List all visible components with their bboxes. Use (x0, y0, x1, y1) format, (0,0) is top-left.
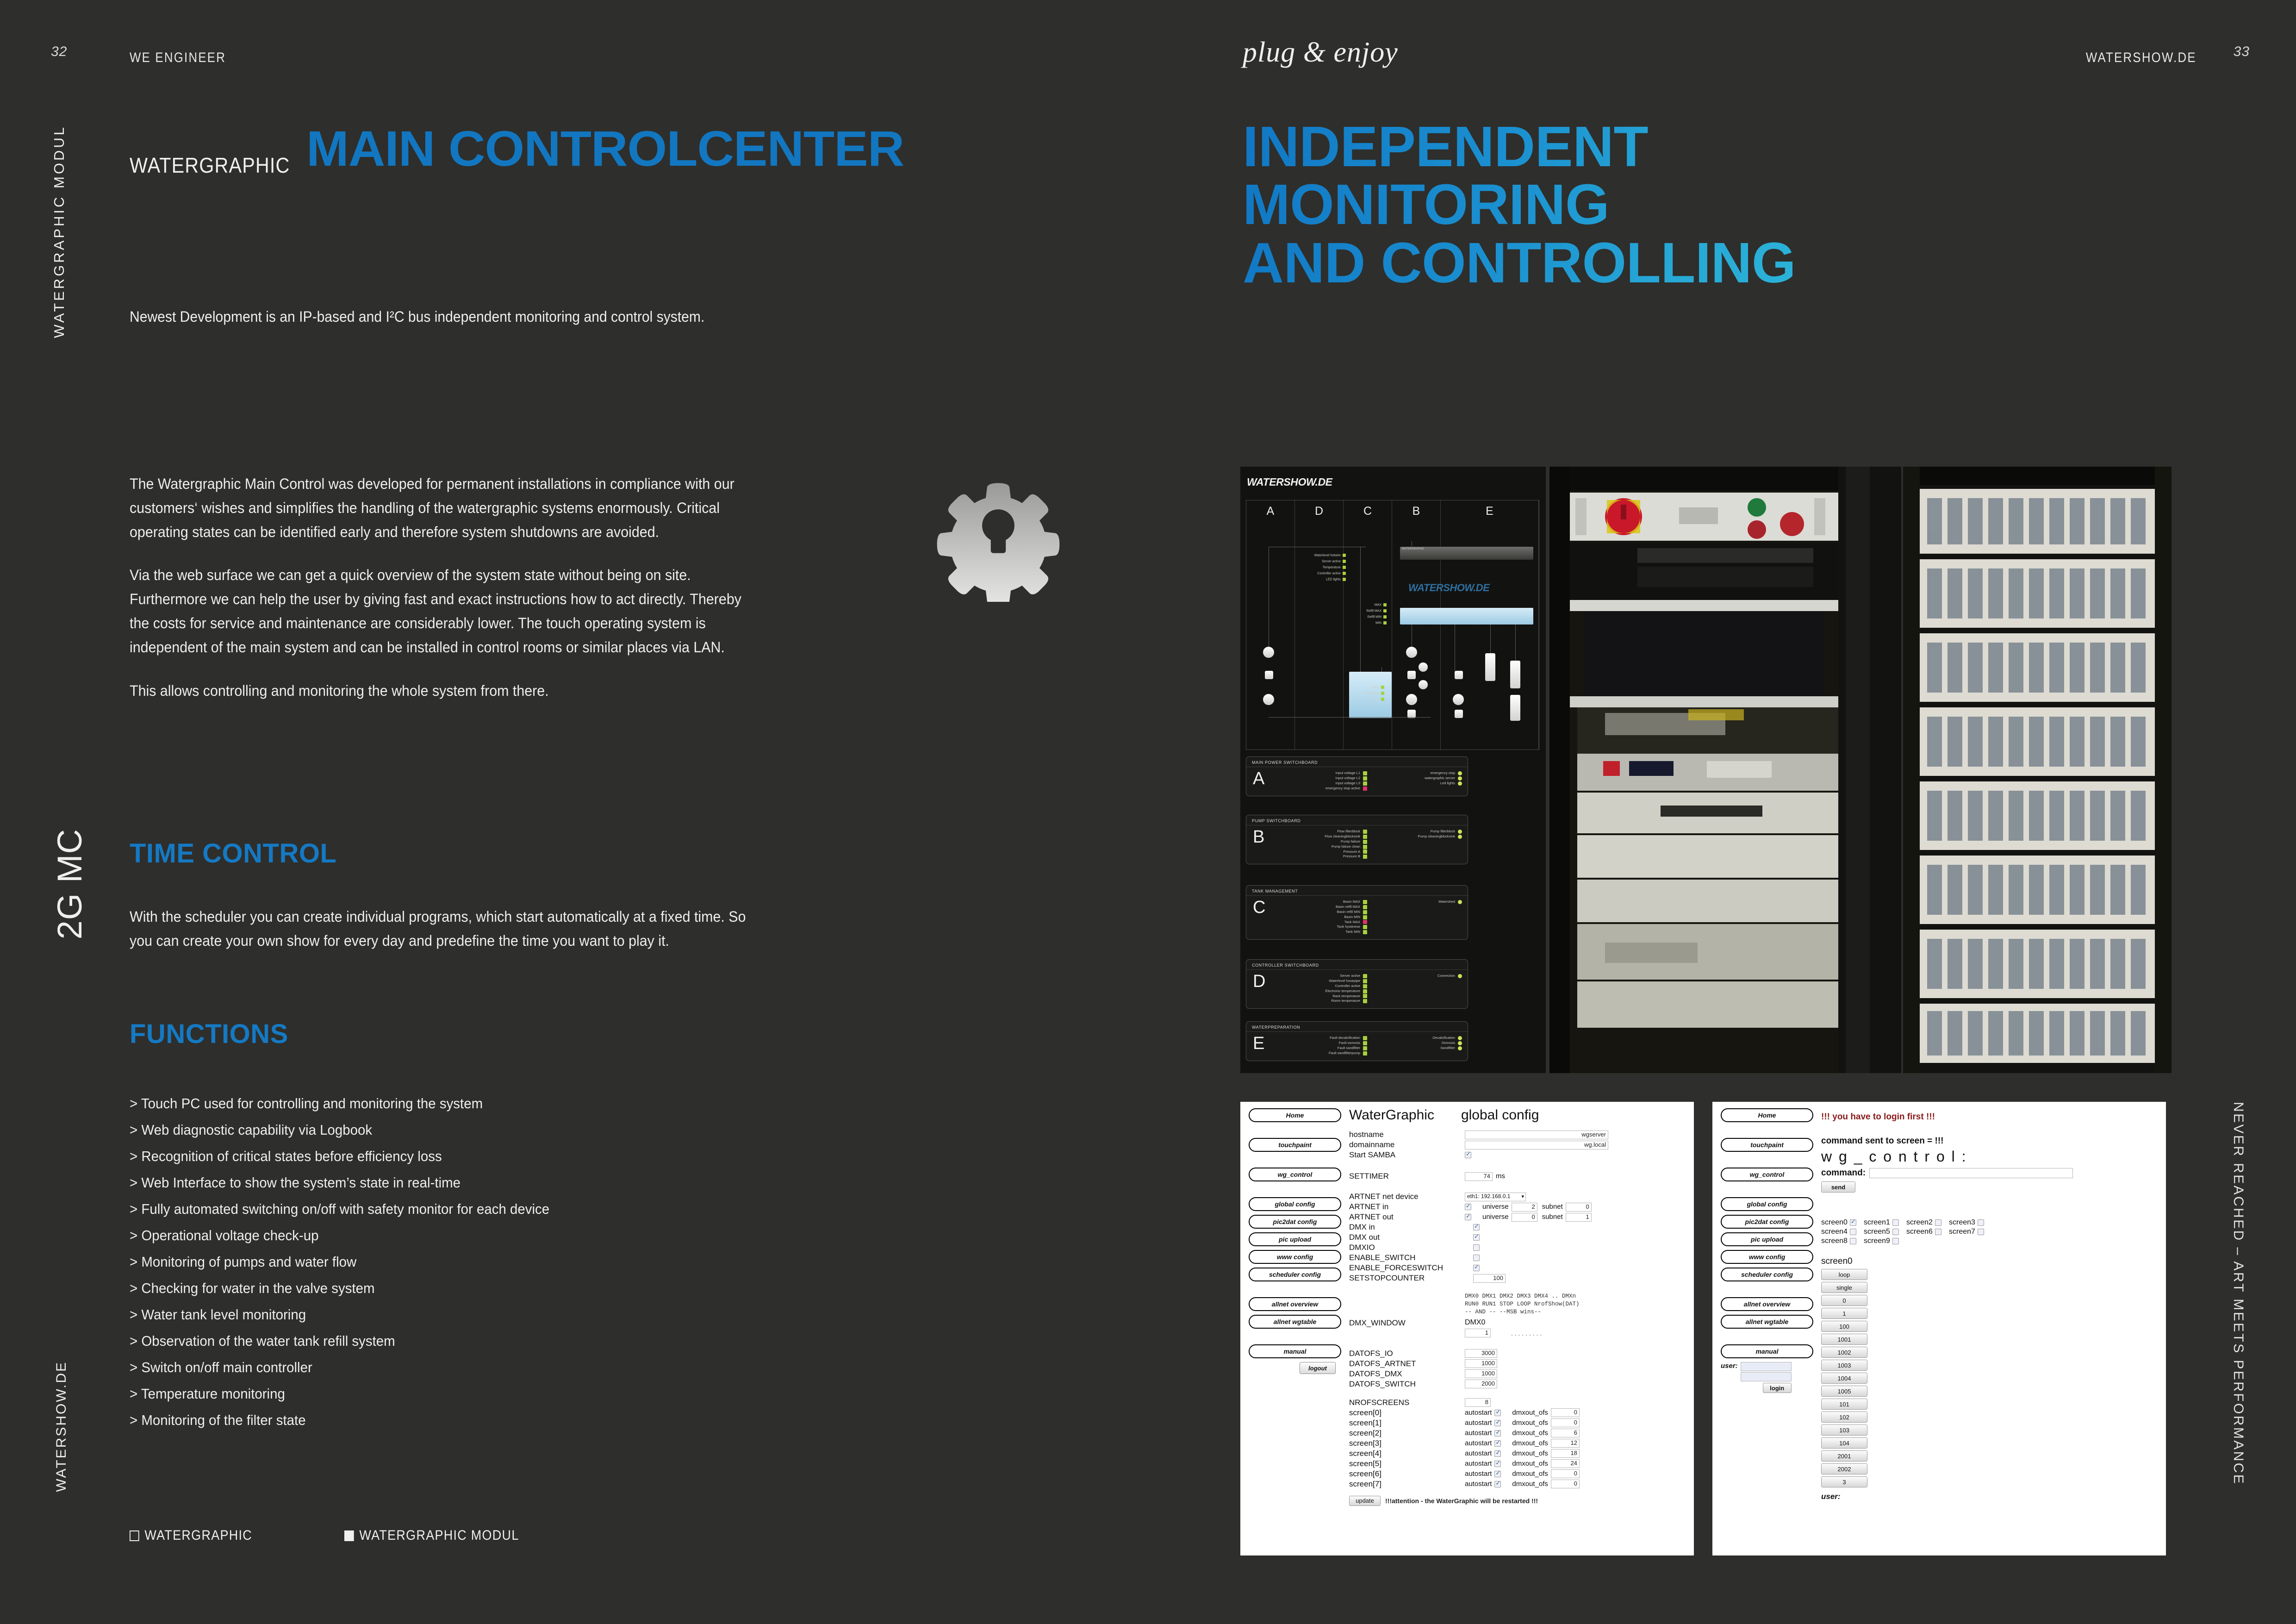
schematic-led-temperature: Temperature (1265, 566, 1346, 569)
schematic-group-letter: B (1253, 827, 1264, 847)
schematic-column-e: E (1441, 505, 1538, 518)
command-button-2001[interactable]: 2001 (1821, 1450, 1867, 1462)
dmxout-ofs-label: dmxout_ofs (1512, 1408, 1548, 1418)
webui-b-content: !!! you have to login first !!! command … (1821, 1107, 2162, 1501)
schematic-connector (1490, 625, 1491, 653)
schematic-node-fil-b (1407, 671, 1416, 679)
vertical-label-series: 2G MC (50, 829, 89, 939)
screen-check-label: screen3 (1949, 1218, 1975, 1227)
list-item: > Water tank level monitoring (130, 1301, 789, 1328)
nav-global-config[interactable]: global config (1721, 1197, 1813, 1211)
nav-manual[interactable]: manual (1249, 1344, 1341, 1358)
list-item: > Observation of the water tank refill s… (130, 1328, 789, 1354)
nav-pic2dat-config[interactable]: pic2dat config (1721, 1215, 1813, 1229)
schematic-node-p1-b (1419, 662, 1428, 672)
webui-a-content: WaterGraphic global config hostname wgse… (1349, 1107, 1690, 1506)
schematic-status-line: Input voltage L3 (1273, 781, 1368, 786)
selected-screen-label: screen0 (1821, 1256, 2162, 1267)
page-number-left: 32 (51, 44, 67, 60)
user-input[interactable] (1741, 1362, 1792, 1371)
dmxout-ofs-label: dmxout_ofs (1512, 1429, 1548, 1438)
dmx-window-label: DMX_WINDOW (1349, 1318, 1465, 1328)
schematic-status-line: Electronic temperature (1273, 989, 1368, 994)
section-heading-time-control: TIME CONTROL (130, 838, 336, 869)
artnet-out-subnet-input[interactable]: 1 (1566, 1213, 1592, 1222)
schematic-led-max: MAX (1332, 603, 1387, 606)
vertical-label-watershow-de: WATERSHOW.DE (54, 1361, 69, 1492)
autostart-checkbox[interactable] (1494, 1481, 1501, 1487)
footer-legend: WATERGRAPHIC WATERGRAPHIC MODUL (130, 1528, 539, 1543)
row-start-samba: Start SAMBA (1349, 1150, 1690, 1160)
dmx-legend-line: DMX0 DMX1 DMX2 DMX3 DMX4 .. DMXn (1465, 1293, 1690, 1300)
schematic-node-flow-b (1406, 647, 1417, 658)
row-settimer: SETTIMER 74 ms (1349, 1171, 1690, 1181)
left-page: 32 WE ENGINEER WATERGRAPHIC MODUL 2G MC … (0, 0, 1148, 1624)
list-item: > Web Interface to show the system’s sta… (130, 1169, 789, 1196)
page-title: global config (1461, 1107, 1539, 1123)
lede-paragraph: Newest Development is an IP-based and I²… (130, 306, 869, 329)
schematic-tank-led-max: MAX (1355, 686, 1384, 689)
dmxout-ofs-label: dmxout_ofs (1512, 1418, 1548, 1428)
schematic-status-line: Pump failure clean (1273, 844, 1368, 849)
schematic-connector (1381, 667, 1382, 672)
app-title: WaterGraphic (1349, 1107, 1434, 1123)
login-warning: !!! you have to login first !!! (1821, 1112, 2162, 1122)
command-button-2002[interactable]: 2002 (1821, 1463, 1867, 1474)
screen-check-label: screen5 (1864, 1228, 1890, 1236)
schematic-status-line: Server active (1273, 974, 1368, 979)
magazine-spread: 32 WE ENGINEER WATERGRAPHIC MODUL 2G MC … (0, 0, 2296, 1624)
schematic-status-line: emergency stop active (1273, 786, 1368, 791)
schematic-node-flow-a (1263, 647, 1274, 658)
schematic-group-letter: A (1253, 769, 1264, 789)
table-row: screen[0]autostartdmxout_ofs0 (1349, 1408, 1690, 1418)
flag-checkbox[interactable] (1473, 1224, 1480, 1230)
row-flag: ENABLE_SWITCH (1349, 1253, 1690, 1263)
schematic-group-b: PUMP SWITCHBOARDBFlow filterblockFlow cl… (1246, 815, 1468, 864)
row-datofs: DATOFS_DMX1000 (1349, 1369, 1690, 1379)
schematic-status-line: Connection (1368, 974, 1463, 979)
autostart-label: autostart (1465, 1408, 1492, 1418)
headline-kicker: WATERGRAPHIC (130, 153, 290, 178)
dmxout-ofs-input[interactable]: 0 (1551, 1480, 1580, 1488)
datofs-label: DATOFS_DMX (1349, 1369, 1465, 1379)
screen-checkbox[interactable] (1978, 1229, 1984, 1235)
artnet-out-universe-label: universe (1482, 1212, 1509, 1222)
command-button-list: loopsingle011001001100210031004100510110… (1821, 1269, 2162, 1501)
body-paragraph-1: The Watergraphic Main Control was develo… (130, 472, 754, 544)
list-item: > Web diagnostic capability via Logbook (130, 1117, 789, 1143)
screen-check-label: screen0 (1821, 1218, 1848, 1227)
schematic-status-line: Basin MIN (1273, 915, 1368, 920)
artnet-in-universe-input[interactable]: 2 (1512, 1203, 1537, 1212)
schematic-connector (1269, 547, 1269, 647)
schematic-group-d: CONTROLLER SWITCHBOARDDServer activeWate… (1246, 959, 1468, 1009)
nav-scheduler-config[interactable]: scheduler config (1721, 1268, 1813, 1281)
nav-pic-upload[interactable]: pic upload (1721, 1232, 1813, 1246)
dmx-legend-line: RUN0 RUN1 STOP LOOP NrofShow(DAT) (1465, 1300, 1690, 1308)
nav-global-config[interactable]: global config (1249, 1197, 1341, 1211)
artnet-out-checkbox[interactable] (1465, 1214, 1471, 1220)
nrofscreens-input[interactable]: 8 (1465, 1398, 1491, 1407)
schematic-column-c: C (1344, 505, 1392, 518)
schematic-group-title: WATERPREPARATION (1246, 1022, 1468, 1032)
screen-checkbox[interactable] (1935, 1229, 1941, 1235)
nav-allnet-overview[interactable]: allnet overview (1721, 1297, 1813, 1311)
flag-label: DMX in (1349, 1222, 1473, 1232)
screen-check-label: screen8 (1821, 1237, 1848, 1245)
schematic-connector (1515, 625, 1516, 661)
setstopcounter-input[interactable]: 100 (1473, 1274, 1506, 1283)
screen-checkbox[interactable] (1850, 1219, 1856, 1226)
autostart-label: autostart (1465, 1480, 1492, 1489)
schematic-group-title: CONTROLLER SWITCHBOARD (1246, 960, 1468, 970)
nav-allnet-wgtable[interactable]: allnet wgtable (1721, 1315, 1813, 1329)
command-row: command: (1821, 1168, 2162, 1178)
command-button-3[interactable]: 3 (1821, 1476, 1867, 1487)
row-dmx-window: DMX_WINDOW DMX0 (1349, 1318, 1690, 1328)
autostart-checkbox[interactable] (1494, 1461, 1501, 1467)
command-button-0[interactable]: 0 (1821, 1295, 1867, 1306)
square-hollow-icon (130, 1530, 139, 1541)
domainname-input[interactable]: wg.local (1465, 1141, 1608, 1149)
schematic-group-letter: C (1253, 898, 1265, 918)
dmxout-ofs-label: dmxout_ofs (1512, 1469, 1548, 1479)
schematic-led-refill-min: Refill MIN (1332, 615, 1387, 618)
nav-touchpaint[interactable]: touchpaint (1249, 1138, 1341, 1152)
screen-check-label: screen2 (1906, 1218, 1933, 1227)
schematic-status-line: Rack temperature (1273, 994, 1368, 999)
schematic-led-waterlevel: Waterlevel hotwire (1265, 554, 1346, 557)
schematic-status-line: Input voltage L1 (1273, 771, 1368, 776)
table-row: screen[4]autostartdmxout_ofs18 (1349, 1449, 1690, 1459)
schematic-status-line: Osmosis (1368, 1041, 1463, 1046)
table-row: screen[3]autostartdmxout_ofs12 (1349, 1438, 1690, 1449)
flag-checkbox[interactable] (1473, 1244, 1480, 1251)
command-button-1[interactable]: 1 (1821, 1308, 1867, 1319)
schematic-status-line: Pump cleaningblocksink (1368, 834, 1463, 839)
command-input[interactable] (1869, 1168, 2073, 1178)
schematic-connector (1412, 625, 1412, 647)
schematic-overlay-bar: WATERGRAPHIC (1400, 547, 1533, 560)
schematic-status-line: Flow filterblock (1273, 829, 1368, 834)
schematic-status-line: Input voltage L2 (1273, 776, 1368, 781)
settimer-input[interactable]: 74 (1465, 1172, 1493, 1181)
command-button-1005[interactable]: 1005 (1821, 1386, 1867, 1397)
schematic-water-bar (1400, 608, 1533, 625)
settimer-unit: ms (1496, 1172, 1505, 1181)
system-schematic-screenshot: WATERSHOW.DE A D C B E Waterlevel hotwir… (1240, 467, 1546, 1073)
autostart-label: autostart (1465, 1429, 1492, 1438)
schematic-status-line: Fault osmosis (1273, 1041, 1368, 1046)
row-artnet-out: ARTNET out universe 0 subnet 1 (1349, 1212, 1690, 1222)
password-input[interactable] (1741, 1372, 1792, 1381)
artnet-in-checkbox[interactable] (1465, 1204, 1471, 1210)
schematic-group-title: MAIN POWER SWITCHBOARD (1246, 757, 1468, 767)
schematic-connector (1360, 547, 1361, 672)
screen-checkbox[interactable] (1892, 1229, 1899, 1235)
flag-checkbox[interactable] (1473, 1234, 1480, 1241)
login-block: user:login (1721, 1362, 1813, 1393)
schematic-status-line: Tank hysterese (1273, 924, 1368, 930)
login-button[interactable]: login (1763, 1383, 1792, 1393)
command-button-1003[interactable]: 1003 (1821, 1360, 1867, 1371)
screen-name: screen[1] (1349, 1418, 1465, 1428)
panel-title: w g _ c o n t r o l : (1821, 1148, 2162, 1165)
datofs-input[interactable]: 2000 (1465, 1380, 1497, 1388)
command-button-102[interactable]: 102 (1821, 1412, 1867, 1423)
datofs-label: DATOFS_SWITCH (1349, 1379, 1465, 1389)
datofs-label: DATOFS_IO (1349, 1349, 1465, 1359)
row-datofs: DATOFS_ARTNET1000 (1349, 1359, 1690, 1369)
legend-item-watergraphic-modul: WATERGRAPHIC MODUL (344, 1528, 519, 1543)
list-item: > Monitoring of pumps and water flow (130, 1249, 789, 1275)
webui-global-config-screenshot: Hometouchpaintwg_controlglobal configpic… (1240, 1102, 1694, 1555)
nav-wg-control[interactable]: wg_control (1249, 1168, 1341, 1181)
schematic-status-line: Waterlevel hosepipe (1273, 979, 1368, 984)
command-sent-status: command sent to screen = !!! (1821, 1136, 2162, 1146)
artnet-out-universe-input[interactable]: 0 (1512, 1213, 1537, 1222)
dmxout-ofs-label: dmxout_ofs (1512, 1459, 1548, 1468)
nav-home[interactable]: Home (1721, 1108, 1813, 1122)
autostart-checkbox[interactable] (1494, 1471, 1501, 1477)
dmx-window-dots: . . . . . . . . . (1511, 1329, 1542, 1337)
webui-wg-control-screenshot: Hometouchpaintwg_controlglobal configpic… (1712, 1102, 2166, 1555)
nav-home[interactable]: Home (1249, 1108, 1341, 1122)
screen-checkbox[interactable] (1892, 1238, 1899, 1244)
screen-check-item[interactable]: screen3 (1949, 1218, 1991, 1227)
schematic-group-letter: D (1253, 972, 1265, 992)
dmx-window-input[interactable]: 1 (1465, 1329, 1491, 1337)
title-line-2: MONITORING (1243, 176, 1796, 234)
nrofscreens-label: NROFSCREENS (1349, 1398, 1465, 1408)
vertical-label-watergraphic-modul: WATERGRAPHIC MODUL (51, 125, 68, 338)
command-button-100[interactable]: 100 (1821, 1321, 1867, 1332)
login-row: user: (1821, 1492, 2162, 1501)
screen-checkbox[interactable] (1978, 1219, 1984, 1226)
row-hostname: hostname wgserver (1349, 1130, 1690, 1140)
dmxout-ofs-input[interactable]: 0 (1551, 1469, 1580, 1478)
hostname-input[interactable]: wgserver (1465, 1131, 1608, 1139)
schematic-tank-led-min: MIN (1355, 698, 1384, 701)
screen-check-item[interactable]: screen5 (1864, 1228, 1906, 1236)
screen-name: screen[6] (1349, 1469, 1465, 1479)
start-samba-label: Start SAMBA (1349, 1150, 1465, 1160)
schematic-group-title: PUMP SWITCHBOARD (1246, 815, 1468, 825)
artnet-device-select[interactable]: eth1: 192.168.0.1 (1465, 1193, 1526, 1201)
dmxout-ofs-input[interactable]: 12 (1551, 1439, 1580, 1448)
screen-checkbox[interactable] (1850, 1229, 1856, 1235)
screen-check-label: screen1 (1864, 1218, 1890, 1227)
nav-www-config[interactable]: www config (1721, 1250, 1813, 1264)
schematic-status-line: Tank MAX (1273, 920, 1368, 925)
screen-check-label: screen7 (1949, 1228, 1975, 1236)
screen-name: screen[7] (1349, 1479, 1465, 1489)
nav-pic-upload[interactable]: pic upload (1249, 1232, 1341, 1246)
flag-checkbox[interactable] (1473, 1255, 1480, 1261)
schematic-status-line: Decalcification (1368, 1036, 1463, 1041)
screen-checkbox[interactable] (1850, 1238, 1856, 1244)
command-button-104[interactable]: 104 (1821, 1437, 1867, 1449)
schematic-status-line: Basin refill MIN (1273, 910, 1368, 915)
schematic-status-line: Fault decalcification (1273, 1036, 1368, 1041)
autostart-checkbox[interactable] (1494, 1430, 1501, 1437)
nav-allnet-overview[interactable]: allnet overview (1249, 1297, 1341, 1311)
schematic-group-title: TANK MANAGEMENT (1246, 886, 1468, 896)
nav-pic2dat-config[interactable]: pic2dat config (1249, 1215, 1341, 1229)
command-button-103[interactable]: 103 (1821, 1424, 1867, 1436)
schematic-node-tall-e1 (1485, 653, 1495, 681)
screen-checkbox[interactable] (1935, 1219, 1941, 1226)
row-flag: DMX out (1349, 1232, 1690, 1243)
schematic-node-fil2-e (1455, 710, 1463, 718)
screen-check-item[interactable]: screen7 (1949, 1228, 1991, 1236)
schematic-status-line: Tank MIN (1273, 930, 1368, 935)
settimer-label: SETTIMER (1349, 1171, 1465, 1181)
body-paragraph-3: This allows controlling and monitoring t… (130, 679, 754, 703)
screen-check-item[interactable]: screen1 (1864, 1218, 1906, 1227)
command-button-loop[interactable]: loop (1821, 1269, 1867, 1280)
schematic-led-min: MIN (1332, 621, 1387, 625)
screen-check-item[interactable]: screen6 (1906, 1228, 1949, 1236)
legend-label: WATERGRAPHIC (144, 1528, 252, 1543)
webui-a-title-row: WaterGraphic global config (1349, 1107, 1690, 1123)
page-title: MAIN CONTROLCENTER (306, 119, 904, 177)
body-paragraph-2: Via the web surface we can get a quick o… (130, 563, 754, 659)
list-item: > Fully automated switching on/off with … (130, 1196, 789, 1222)
autostart-label: autostart (1465, 1469, 1492, 1479)
nav-allnet-wgtable[interactable]: allnet wgtable (1249, 1315, 1341, 1329)
user-label: user: (1721, 1362, 1738, 1370)
artnet-in-universe-label: universe (1482, 1202, 1509, 1212)
screen-check-label: screen4 (1821, 1228, 1848, 1236)
screen-check-label: screen6 (1906, 1228, 1933, 1236)
dmxout-ofs-input[interactable]: 6 (1551, 1429, 1580, 1437)
dmxout-ofs-input[interactable]: 0 (1551, 1418, 1580, 1427)
screen-check-item[interactable]: screen4 (1821, 1228, 1864, 1236)
artnet-out-label: ARTNET out (1349, 1212, 1465, 1222)
schematic-column-d: D (1295, 505, 1343, 518)
screen-name: screen[4] (1349, 1449, 1465, 1459)
schematic-group-e: WATERPREPARATIONEFault decalcificationFa… (1246, 1021, 1468, 1061)
schematic-group-c: TANK MANAGEMENTCBasin MAXBasin refill MA… (1246, 885, 1468, 940)
logout-button[interactable]: logout (1300, 1362, 1336, 1374)
list-item: > Switch on/off main controller (130, 1354, 789, 1380)
datofs-input[interactable]: 1000 (1465, 1359, 1497, 1368)
datofs-label: DATOFS_ARTNET (1349, 1359, 1465, 1369)
functions-list: > Touch PC used for controlling and moni… (130, 1090, 824, 1433)
screen-check-item[interactable]: screen0 (1821, 1218, 1864, 1227)
list-item: > Temperature monitoring (130, 1380, 789, 1407)
artnet-in-subnet-label: subnet (1542, 1202, 1563, 1212)
dmxout-ofs-input[interactable]: 18 (1551, 1449, 1580, 1458)
autostart-checkbox[interactable] (1494, 1450, 1501, 1457)
datofs-input[interactable]: 1000 (1465, 1369, 1497, 1378)
schematic-led-controller: Controller active (1265, 572, 1346, 575)
webui-a-flags: DMX inDMX outDMXIOENABLE_SWITCHENABLE_FO… (1349, 1222, 1690, 1273)
dmxout-ofs-input[interactable]: 24 (1551, 1459, 1580, 1468)
autostart-label: autostart (1465, 1439, 1492, 1448)
screen-checkbox-grid: screen0screen1screen2screen3screen4scree… (1821, 1218, 2162, 1245)
artnet-device-label: ARTNET net device (1349, 1192, 1465, 1202)
hostname-label: hostname (1349, 1130, 1465, 1140)
schematic-group-a: MAIN POWER SWITCHBOARDAInput voltage L1I… (1246, 756, 1468, 796)
schematic-status-line: Pressure B (1273, 854, 1368, 859)
send-button[interactable]: send (1821, 1181, 1855, 1193)
schematic-node-pump-e (1453, 694, 1464, 705)
screen-check-item[interactable]: screen9 (1864, 1237, 1906, 1245)
time-control-text: With the scheduler you can create indivi… (130, 905, 759, 953)
datofs-input[interactable]: 3000 (1465, 1349, 1497, 1358)
flag-label: ENABLE_SWITCH (1349, 1253, 1473, 1263)
schematic-group-letter: E (1253, 1034, 1264, 1054)
row-flag: ENABLE_FORCESWITCH (1349, 1263, 1690, 1273)
row-setstopcounter: SETSTOPCOUNTER 100 (1349, 1273, 1690, 1283)
screen-name: screen[0] (1349, 1408, 1465, 1418)
update-button[interactable]: update (1349, 1496, 1381, 1506)
square-solid-icon (344, 1530, 354, 1541)
command-button-1001[interactable]: 1001 (1821, 1334, 1867, 1345)
screen-check-item[interactable]: screen2 (1906, 1218, 1949, 1227)
schematic-node-tall-e2 (1510, 661, 1520, 688)
screen-check-item[interactable]: screen8 (1821, 1237, 1864, 1245)
row-flag: DMX in (1349, 1222, 1690, 1232)
autostart-checkbox[interactable] (1494, 1420, 1501, 1426)
dmxout-ofs-input[interactable]: 0 (1551, 1408, 1580, 1417)
list-item: > Recognition of critical states before … (130, 1143, 789, 1169)
schematic-connector (1269, 547, 1366, 547)
server-rack-photo-right (1903, 467, 2172, 1073)
nav-manual[interactable]: manual (1721, 1344, 1813, 1358)
command-button-101[interactable]: 101 (1821, 1399, 1867, 1410)
schematic-topology-area: A D C B E Waterlevel hotwire Server acti… (1246, 500, 1539, 750)
screen-checkbox[interactable] (1892, 1219, 1899, 1226)
autostart-checkbox[interactable] (1494, 1410, 1501, 1416)
server-rack-photo-left (1549, 467, 1901, 1073)
row-domainname: domainname wg.local (1349, 1140, 1690, 1150)
start-samba-checkbox[interactable] (1465, 1152, 1471, 1158)
dmx-legend: DMX0 DMX1 DMX2 DMX3 DMX4 .. DMXn RUN0 RU… (1465, 1293, 1690, 1316)
dmxout-ofs-label: dmxout_ofs (1512, 1480, 1548, 1489)
command-button-1002[interactable]: 1002 (1821, 1347, 1867, 1358)
setstopcounter-label: SETSTOPCOUNTER (1349, 1273, 1473, 1283)
dmxout-ofs-label: dmxout_ofs (1512, 1449, 1548, 1458)
running-head-left: WE ENGINEER (130, 50, 226, 66)
command-button-single[interactable]: single (1821, 1282, 1867, 1293)
artnet-in-subnet-input[interactable]: 0 (1566, 1203, 1592, 1212)
flag-label: DMXIO (1349, 1243, 1473, 1253)
section-heading-functions: FUNCTIONS (130, 1018, 288, 1049)
command-button-1004[interactable]: 1004 (1821, 1373, 1867, 1384)
autostart-checkbox[interactable] (1494, 1440, 1501, 1447)
command-label: command: (1821, 1168, 1866, 1178)
nav-www-config[interactable]: www config (1249, 1250, 1341, 1264)
flag-checkbox[interactable] (1473, 1265, 1480, 1271)
dmx-legend-line: -- AND -- --MSB wins-- (1465, 1308, 1690, 1316)
schematic-status-line: Controller active (1273, 984, 1368, 989)
autostart-label: autostart (1465, 1418, 1492, 1428)
schematic-node-pump-b (1406, 694, 1417, 705)
nav-touchpaint[interactable]: touchpaint (1721, 1138, 1813, 1152)
schematic-column-b: B (1392, 505, 1440, 518)
artnet-out-subnet-label: subnet (1542, 1212, 1563, 1222)
list-item: > Touch PC used for controlling and moni… (130, 1090, 789, 1117)
artnet-in-label: ARTNET in (1349, 1202, 1465, 1212)
autostart-label: autostart (1465, 1459, 1492, 1468)
gear-icon (936, 477, 1061, 602)
nav-wg-control[interactable]: wg_control (1721, 1168, 1813, 1181)
nav-scheduler-config[interactable]: scheduler config (1249, 1268, 1341, 1281)
